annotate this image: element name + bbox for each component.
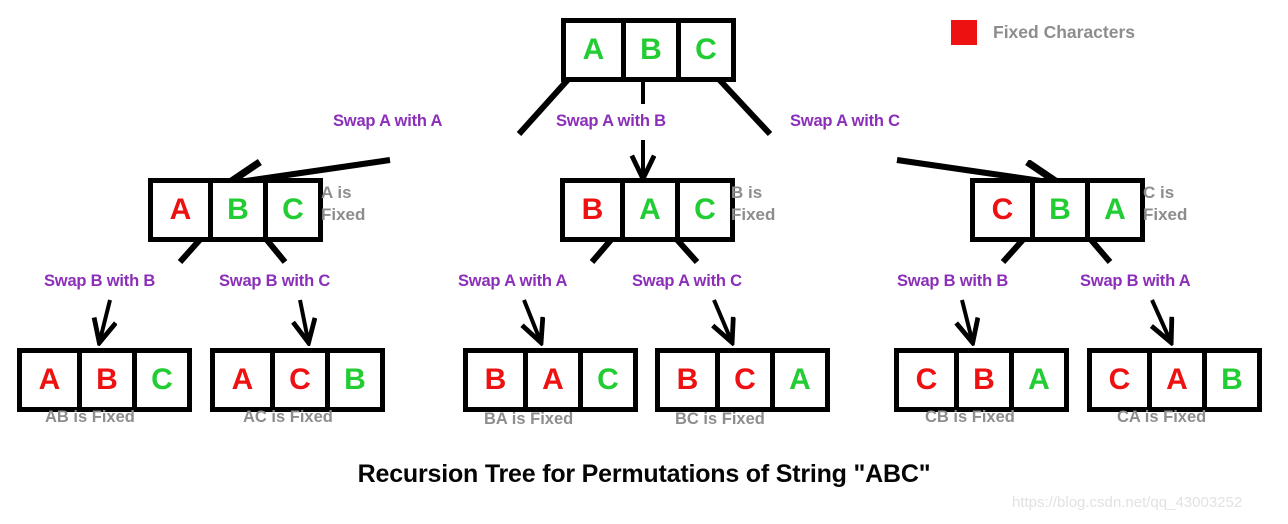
node-cell: B: [621, 23, 676, 77]
edge-label-swap-b-b-left: Swap B with B: [44, 272, 155, 291]
edge-label-swap-a-a: Swap A with A: [333, 112, 442, 131]
node-cell: C: [578, 353, 633, 407]
leaf-node-abc: A B C: [17, 348, 192, 412]
caption-bc-is-fixed: BC is Fixed: [675, 410, 765, 429]
node-cell: C: [675, 183, 730, 237]
caption-b-is-fixed: B is Fixed: [731, 182, 805, 226]
leaf-node-acb: A C B: [210, 348, 385, 412]
diagram-canvas: Fixed Characters A B C Swap A with A Swa…: [0, 0, 1288, 524]
edge-label-swap-a-b: Swap A with B: [556, 112, 666, 131]
node-cell: B: [208, 183, 263, 237]
leaf-node-cab: C A B: [1087, 348, 1262, 412]
node-cell: B: [77, 353, 132, 407]
caption-ac-is-fixed: AC is Fixed: [243, 408, 333, 427]
watermark: https://blog.csdn.net/qq_43003252: [1012, 494, 1242, 511]
edge-label-swap-b-c: Swap B with C: [219, 272, 330, 291]
node-a-fixed: A B C: [148, 178, 323, 242]
legend: Fixed Characters: [951, 20, 1135, 45]
node-root: A B C: [561, 18, 736, 82]
edge-label-swap-b-a: Swap B with A: [1080, 272, 1190, 291]
node-cell: C: [263, 183, 318, 237]
node-cell: A: [1009, 353, 1064, 407]
node-cell: C: [715, 353, 770, 407]
node-cell: A: [523, 353, 578, 407]
node-cell: C: [270, 353, 325, 407]
caption-ba-is-fixed: BA is Fixed: [484, 410, 573, 429]
caption-ab-is-fixed: AB is Fixed: [45, 408, 135, 427]
node-cell: B: [1030, 183, 1085, 237]
edge-label-swap-a-c: Swap A with C: [790, 112, 900, 131]
node-cell: C: [975, 183, 1030, 237]
node-cell: B: [325, 353, 380, 407]
leaf-node-bac: B A C: [463, 348, 638, 412]
node-cell: B: [954, 353, 1009, 407]
diagram-title: Recursion Tree for Permutations of Strin…: [0, 460, 1288, 489]
node-cell: A: [153, 183, 208, 237]
node-cell: A: [566, 23, 621, 77]
node-cell: A: [1085, 183, 1140, 237]
node-cell: B: [565, 183, 620, 237]
node-cell: C: [132, 353, 187, 407]
node-cell: B: [1202, 353, 1257, 407]
caption-ca-is-fixed: CA is Fixed: [1117, 408, 1206, 427]
leaf-node-cba: C B A: [894, 348, 1069, 412]
node-c-fixed: C B A: [970, 178, 1145, 242]
node-cell: A: [620, 183, 675, 237]
node-cell: B: [660, 353, 715, 407]
node-cell: C: [899, 353, 954, 407]
leaf-node-bca: B C A: [655, 348, 830, 412]
caption-c-is-fixed: C is Fixed: [1143, 182, 1217, 226]
node-b-fixed: B A C: [560, 178, 735, 242]
caption-a-is-fixed: A is Fixed: [321, 182, 395, 226]
node-cell: C: [1092, 353, 1147, 407]
node-cell: A: [215, 353, 270, 407]
edge-label-swap-a-a-mid: Swap A with A: [458, 272, 567, 291]
edge-label-swap-b-b-right: Swap B with B: [897, 272, 1008, 291]
legend-label: Fixed Characters: [993, 22, 1135, 43]
node-cell: A: [22, 353, 77, 407]
edge-label-swap-a-c-mid: Swap A with C: [632, 272, 742, 291]
caption-cb-is-fixed: CB is Fixed: [925, 408, 1015, 427]
node-cell: B: [468, 353, 523, 407]
node-cell: A: [1147, 353, 1202, 407]
red-square-icon: [951, 20, 977, 45]
node-cell: C: [676, 23, 731, 77]
node-cell: A: [770, 353, 825, 407]
